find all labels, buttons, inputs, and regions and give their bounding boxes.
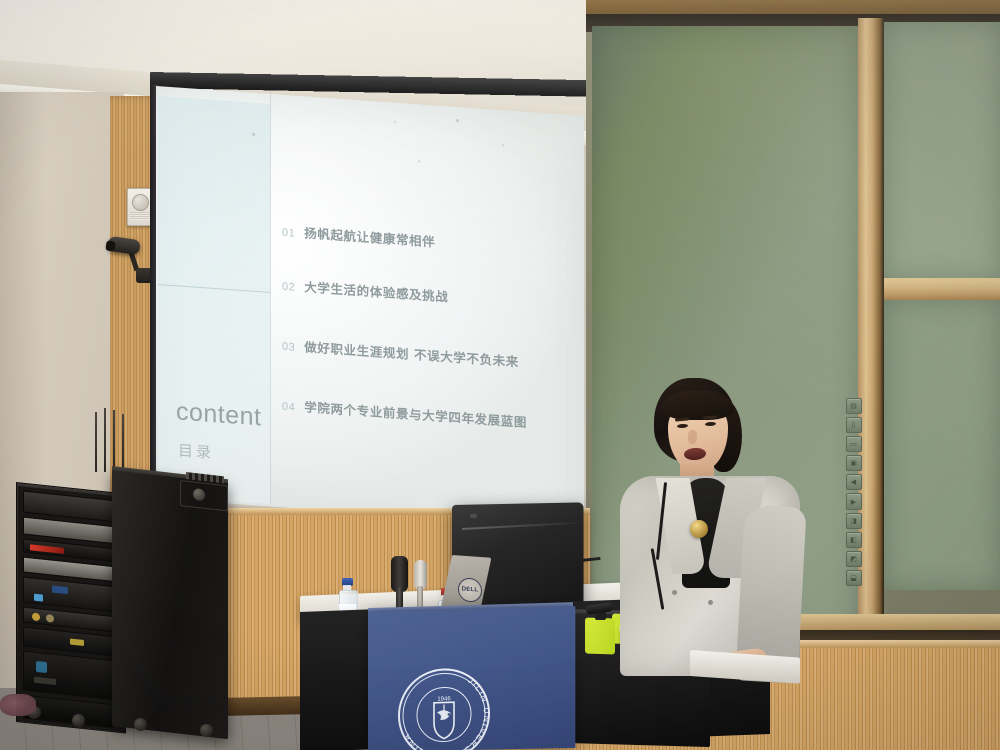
av-rack-cabinet-door[interactable]	[112, 470, 228, 739]
board-button-3[interactable]: ▭	[846, 436, 862, 452]
board-button-6[interactable]: ▶	[846, 493, 862, 509]
chalkboard-panel-lower-right	[884, 300, 1000, 590]
presenter	[612, 378, 812, 678]
spray-bottle	[585, 617, 615, 654]
blazer-button	[672, 590, 677, 595]
board-button-9[interactable]: ◩	[846, 551, 862, 567]
chalkboard-horizontal-rail	[884, 278, 1000, 300]
xlr-connector-icon	[32, 612, 40, 621]
jilin-university-seal: JILIN UNIVERSITY · CHINA 1946	[390, 659, 498, 750]
board-control-button-strip[interactable]: ▤ ▯ ▭ ▣ ◀ ▶ ◨ ◧ ◩ ⬓	[845, 395, 862, 586]
rack-caster	[134, 718, 147, 731]
board-button-5[interactable]: ◀	[846, 474, 862, 490]
slide-accent-block	[158, 96, 270, 504]
cable-bundle	[34, 677, 56, 685]
lecture-hall-photo: 01 扬帆起航让健康常相伴 02 大学生活的体验感及挑战 03 做好职业生涯规划…	[0, 0, 1000, 750]
presenter-nose	[688, 430, 697, 444]
board-button-10[interactable]: ⬓	[846, 570, 862, 586]
av-rack-equipment-stack	[18, 486, 118, 723]
xlr-connector-icon	[46, 614, 54, 623]
floor-cable-pile	[0, 694, 36, 716]
monitor-camera-icon	[470, 514, 477, 518]
board-button-7[interactable]: ◨	[846, 513, 862, 529]
rack-caster	[72, 714, 85, 727]
camera-lens-icon	[105, 240, 115, 251]
antenna-rod	[113, 410, 115, 472]
microphone-head-icon	[391, 556, 408, 592]
wall-speaker-grill	[130, 212, 150, 220]
network-port-icon	[36, 661, 47, 673]
board-button-4[interactable]: ▣	[846, 455, 862, 471]
slide-vertical-divider	[270, 92, 271, 504]
power-led-icon	[70, 638, 84, 645]
rack-led-display	[30, 544, 64, 554]
board-button-1[interactable]: ▤	[846, 398, 862, 414]
rack-unit-processor	[23, 577, 113, 612]
blazer-button	[708, 600, 713, 605]
wall-speaker-driver-icon	[132, 194, 149, 211]
rack-blue-indicator	[34, 594, 43, 602]
board-button-8[interactable]: ◧	[846, 532, 862, 548]
rack-caster	[200, 724, 213, 737]
rack-blue-display	[52, 586, 68, 595]
presenter-bangs	[662, 390, 734, 420]
av-rack-lock-icon[interactable]	[193, 488, 205, 501]
antenna-rod	[95, 412, 97, 472]
rack-unit-cables	[23, 651, 113, 700]
antenna-rod	[104, 408, 106, 472]
presenter-brooch-icon	[690, 520, 708, 538]
board-button-2[interactable]: ▯	[846, 417, 862, 433]
chalkboard-panel-upper-right	[884, 22, 1000, 280]
antenna-rod	[122, 414, 124, 472]
